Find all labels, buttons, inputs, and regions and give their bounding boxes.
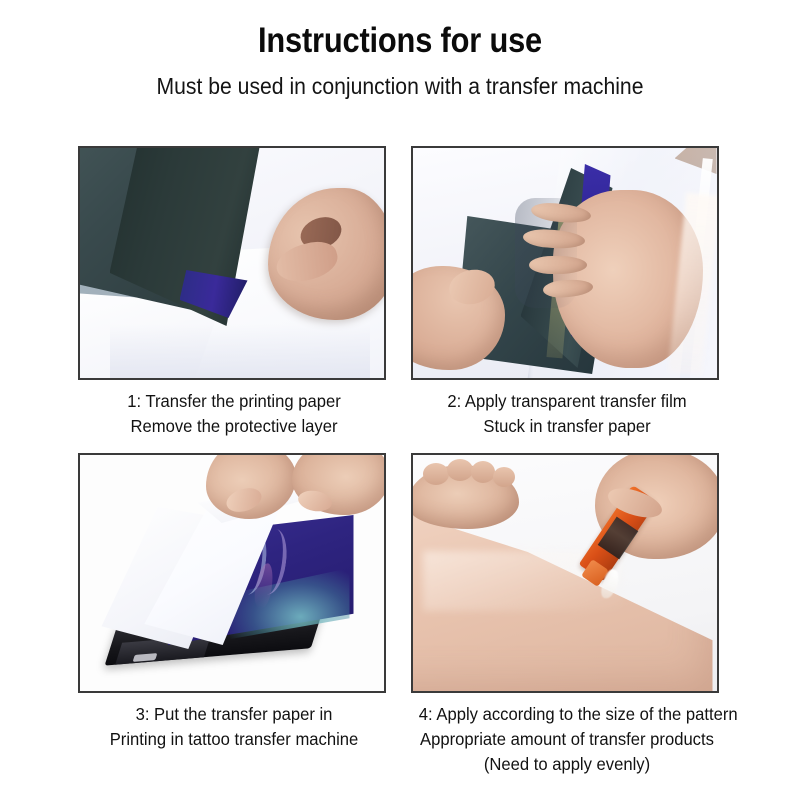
finger [529,256,587,274]
steps-grid: 1: Transfer the printing paper Remove th… [0,146,800,777]
step-4-caption-line-3: (Need to apply evenly) [418,752,714,777]
page-subtitle: Must be used in conjunction with a trans… [32,74,768,99]
steps-row-top: 1: Transfer the printing paper Remove th… [0,146,800,439]
step-3-caption-line-1: 3: Put the transfer paper in [85,702,381,727]
step-1: 1: Transfer the printing paper Remove th… [78,146,390,439]
step-3-photo [78,453,386,693]
step-2: 2: Apply transparent transfer film Stuck… [411,146,723,439]
step-1-caption-line-2: Remove the protective layer [85,414,381,439]
knuckle [447,459,473,481]
step-2-caption-line-1: 2: Apply transparent transfer film [418,389,714,414]
step-3-caption-line-2: Printing in tattoo transfer machine [85,727,381,752]
step-4-caption-line-2: Appropriate amount of transfer products [418,727,714,752]
surface-gloss [110,324,370,380]
steps-row-bottom: 3: Put the transfer paper in Printing in… [0,453,800,777]
knuckle [471,461,495,483]
step-3-caption: 3: Put the transfer paper in Printing in… [85,693,381,752]
step-3: 3: Put the transfer paper in Printing in… [78,453,390,777]
step-1-caption: 1: Transfer the printing paper Remove th… [85,380,381,439]
step-4: 4: Apply according to the size of the pa… [411,453,723,777]
step-2-caption-line-2: Stuck in transfer paper [418,414,714,439]
page-title: Instructions for use [48,22,752,61]
step-2-caption: 2: Apply transparent transfer film Stuck… [418,380,714,439]
knuckle [493,467,515,487]
knuckle [423,463,449,485]
step-4-photo [411,453,719,693]
step-1-caption-line-1: 1: Transfer the printing paper [85,389,381,414]
step-1-photo [78,146,386,380]
page-header: Instructions for use Must be used in con… [0,0,800,99]
step-4-caption-line-1: 4: Apply according to the size of the pa… [418,702,714,727]
instructions-page: Instructions for use Must be used in con… [0,0,800,800]
step-4-caption: 4: Apply according to the size of the pa… [418,693,714,777]
step-2-photo [411,146,719,380]
